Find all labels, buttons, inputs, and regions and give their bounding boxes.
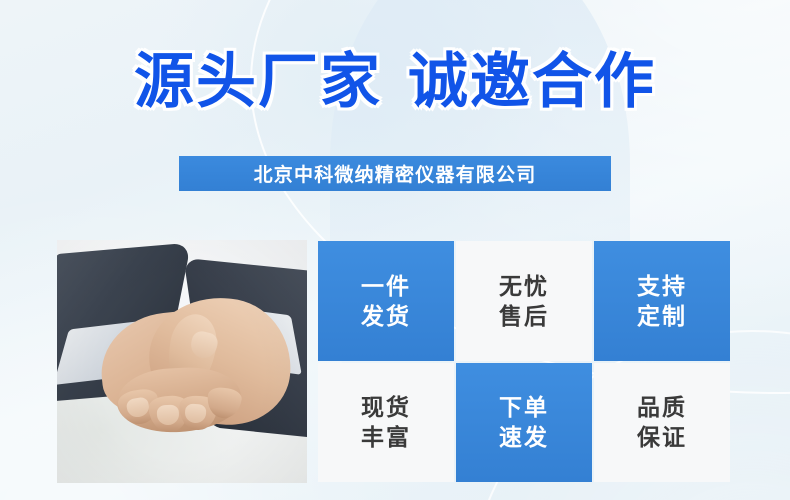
feature-grid: 一件 发货 无忧 售后 支持 定制 现货 丰富 下单 速发 品质 保证	[318, 241, 730, 482]
background-arc-5	[150, 0, 570, 270]
feature-tile-line-1: 一件	[361, 271, 411, 301]
feature-tile-yijianfahuo[interactable]: 一件 发货	[318, 241, 454, 361]
feature-tile-xianhuofengfu[interactable]: 现货 丰富	[318, 363, 454, 483]
headline-part-1: 源头厂家	[134, 48, 382, 115]
feature-tile-line-2: 速发	[499, 422, 549, 452]
feature-tile-line-2: 保证	[637, 422, 687, 452]
feature-tile-line-2: 定制	[637, 301, 687, 331]
headline-part-2: 诚邀合作	[408, 48, 656, 115]
feature-tile-line-1: 现货	[361, 392, 411, 422]
feature-tile-line-1: 无忧	[499, 271, 549, 301]
feature-tile-pinzhibaozheng[interactable]: 品质 保证	[594, 363, 730, 483]
feature-tile-zhichidingzhi[interactable]: 支持 定制	[594, 241, 730, 361]
company-name-banner: 北京中科微纳精密仪器有限公司	[179, 156, 611, 191]
handshake-photo	[57, 240, 307, 483]
feature-tile-line-2: 发货	[361, 301, 411, 331]
feature-tile-line-1: 品质	[637, 392, 687, 422]
headline: 源头厂家诚邀合作	[0, 44, 790, 120]
feature-tile-line-2: 丰富	[361, 422, 411, 452]
company-name-text: 北京中科微纳精密仪器有限公司	[254, 160, 537, 187]
feature-tile-xiadansufa[interactable]: 下单 速发	[456, 363, 592, 483]
feature-tile-line-1: 支持	[637, 271, 687, 301]
handshake-photo-inner	[57, 240, 307, 483]
feature-tile-wuyoushouhou[interactable]: 无忧 售后	[456, 241, 592, 361]
promo-banner-canvas: 源头厂家诚邀合作 北京中科微纳精密仪器有限公司 一件	[0, 0, 790, 500]
feature-tile-line-2: 售后	[499, 301, 549, 331]
feature-tile-line-1: 下单	[499, 392, 549, 422]
photo-vignette	[57, 240, 307, 483]
